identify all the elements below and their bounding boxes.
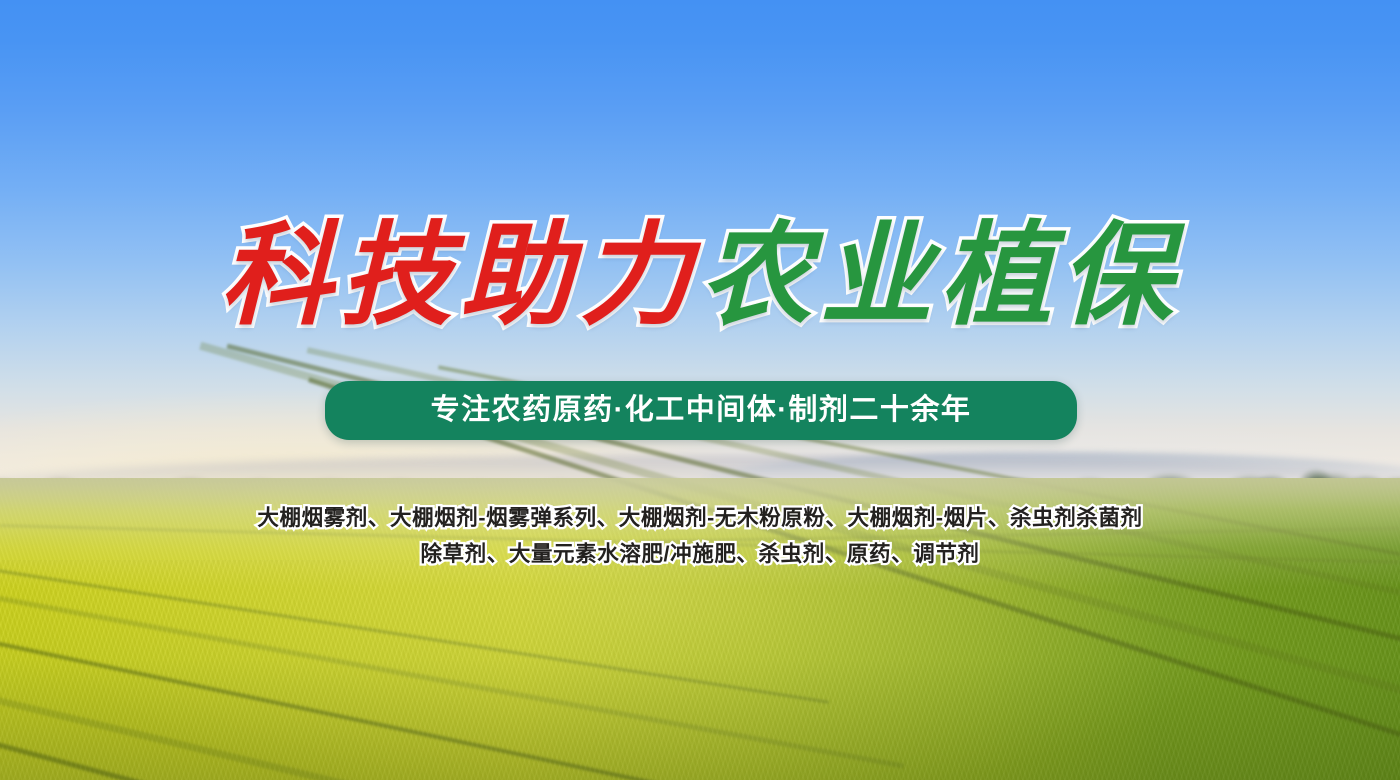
product-line: 除草剂、大量元素水溶肥/冲施肥、杀虫剂、原药、调节剂 [0,536,1400,572]
product-list: 大棚烟雾剂、大棚烟剂-烟雾弹系列、大棚烟剂-无木粉原粉、大棚烟剂-烟片、杀虫剂杀… [0,500,1400,572]
product-line: 大棚烟雾剂、大棚烟剂-烟雾弹系列、大棚烟剂-无木粉原粉、大棚烟剂-烟片、杀虫剂杀… [0,500,1400,536]
title-segment-green: 农业植保 [700,206,1180,346]
subtitle-text: 专注农药原药·化工中间体·制剂二十余年 [431,396,972,425]
banner-content: 科技助力农业植保 专注农药原药·化工中间体·制剂二十余年 大棚烟雾剂、大棚烟剂-… [0,0,1400,780]
hero-banner: 科技助力农业植保 专注农药原药·化工中间体·制剂二十余年 大棚烟雾剂、大棚烟剂-… [0,0,1400,780]
subtitle-banner: 专注农药原药·化工中间体·制剂二十余年 [325,381,1077,440]
title-segment-red: 科技助力 [220,206,700,346]
page-title: 科技助力农业植保 [0,206,1400,346]
